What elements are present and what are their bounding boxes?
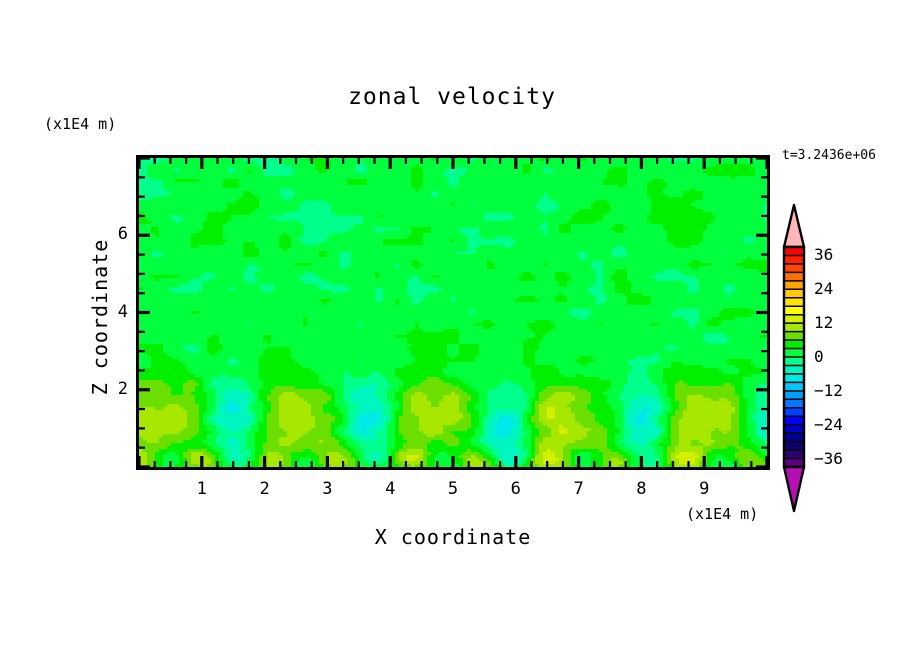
colorbar-tick-label: −36 [814,449,843,468]
timestamp-annotation: t=3.2436e+06 [782,148,876,163]
x-tick-label: 3 [312,479,342,499]
x-axis-title: X coordinate [136,525,770,549]
colorbar-tick-label: 24 [814,279,833,298]
x-tick-label: 2 [250,479,280,499]
colorbar-tick-label: 36 [814,245,833,264]
colorbar-swatches [779,203,809,513]
x-tick-label: 6 [501,479,531,499]
x-tick-label: 8 [626,479,656,499]
x-tick-label: 4 [375,479,405,499]
x-axis-unit-label: (x1E4 m) [686,505,758,523]
colorbar-tick-label: −24 [814,415,843,434]
y-axis-unit-label: (x1E4 m) [44,115,116,133]
x-tick-label: 1 [187,479,217,499]
x-tick-label: 5 [438,479,468,499]
x-tick-label: 9 [689,479,719,499]
figure-canvas: zonal velocity (x1E4 m) (x1E4 m) t=3.243… [0,0,904,654]
contour-plot-area [136,155,770,470]
y-tick-label: 6 [98,224,128,244]
colorbar-tick-label: 0 [814,347,824,366]
y-tick-label: 4 [98,302,128,322]
contour-field [139,158,767,467]
y-tick-label: 2 [98,379,128,399]
colorbar-tick-label: −12 [814,381,843,400]
colorbar-tick-label: 12 [814,313,833,332]
x-tick-label: 7 [564,479,594,499]
colorbar [779,203,809,513]
page-title: zonal velocity [0,84,904,110]
